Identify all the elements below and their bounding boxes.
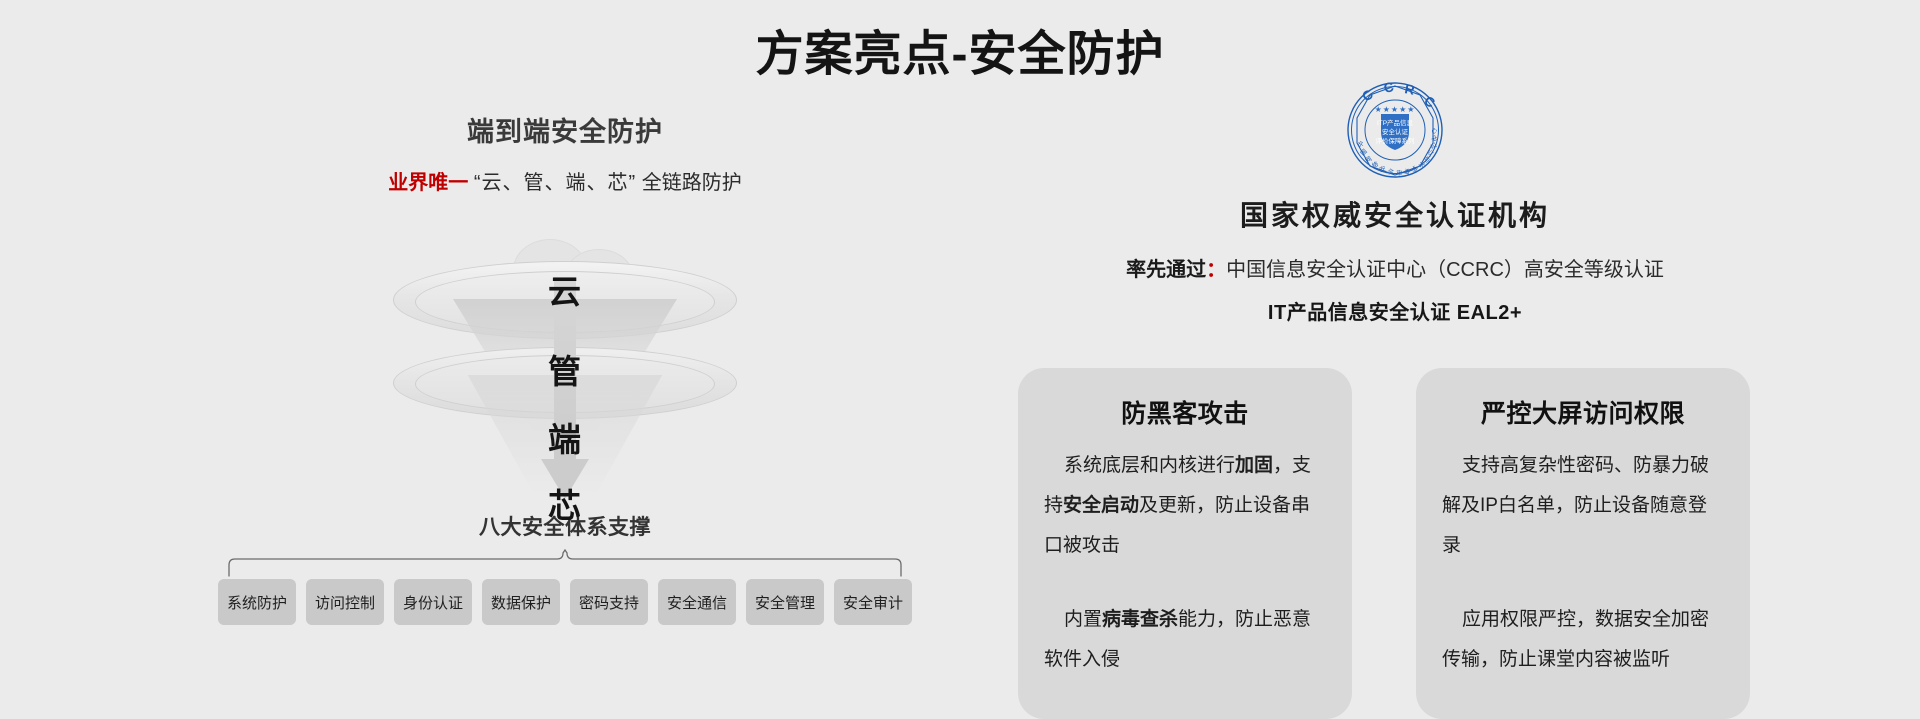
feature-card-access-control[interactable]: 严控大屏访问权限 支持高复杂性密码、防暴力破解及IP白名单，防止设备随意登录 应… [1416, 368, 1750, 719]
certification-line-1: 率先通过：中国信息安全认证中心（CCRC）高安全等级认证 [1000, 253, 1790, 282]
body-text: 系统底层和内核进行 [1064, 455, 1235, 476]
svg-text:ITP产品信息: ITP产品信息 [1377, 118, 1414, 127]
layer-label-pipe: 管 [385, 345, 745, 393]
layer-label-chip: 芯 [385, 479, 745, 527]
svg-text:C: C [1421, 93, 1438, 111]
security-tag[interactable]: 身份认证 [394, 579, 472, 625]
emphasis-text: 安全启动 [1063, 495, 1139, 516]
ccrc-certification-badge-icon: ITP产品信息 安全认证 评价保障系列 ★★★★★ C C R C 中 国 网 [1337, 78, 1453, 182]
chain-scope-tail: 全链路防护 [642, 172, 742, 194]
security-tag[interactable]: 访问控制 [306, 579, 384, 625]
security-tag[interactable]: 数据保护 [482, 579, 560, 625]
certification-colon: ： [1206, 259, 1226, 281]
body-text: 应用权限严控，数据安全加密传输，防止课堂内容被监听 [1442, 609, 1709, 670]
card-title: 防黑客攻击 [1044, 394, 1326, 430]
left-section-subheading: 业界唯一 “云、管、端、芯” 全链路防护 [150, 166, 980, 195]
chain-scope-quoted: “云、管、端、芯” [474, 172, 636, 194]
security-tag[interactable]: 密码支持 [570, 579, 648, 625]
emphasis-text: 加固 [1235, 455, 1273, 476]
feature-card-group: 防黑客攻击 系统底层和内核进行加固，支持安全启动及更新，防止设备串口被攻击 内置… [1018, 368, 1750, 719]
svg-text:全: 全 [1387, 167, 1395, 176]
svg-text:心: 心 [1430, 127, 1438, 134]
layer-label-terminal: 端 [385, 413, 745, 461]
card-paragraph: 应用权限严控，数据安全加密传输，防止课堂内容被监听 [1442, 600, 1724, 680]
card-paragraph: 支持高复杂性密码、防暴力破解及IP白名单，防止设备随意登录 [1442, 446, 1724, 566]
certification-lead-label: 率先通过 [1126, 259, 1206, 281]
svg-text:评价保障系列: 评价保障系列 [1376, 136, 1415, 145]
page-title: 方案亮点-安全防护 [0, 14, 1920, 84]
emphasis-text: 病毒查杀 [1102, 609, 1178, 630]
svg-text:安全认证: 安全认证 [1382, 127, 1409, 136]
security-tag[interactable]: 安全通信 [658, 579, 736, 625]
eight-systems-tag-row: 系统防护 访问控制 身份认证 数据保护 密码支持 安全通信 安全管理 安全审计 [150, 579, 980, 625]
certification-heading: 国家权威安全认证机构 [1000, 194, 1790, 234]
feature-card-anti-hacking[interactable]: 防黑客攻击 系统底层和内核进行加固，支持安全启动及更新，防止设备串口被攻击 内置… [1018, 368, 1352, 719]
cloud-pipe-terminal-chip-diagram: 云 管 端 芯 [385, 237, 745, 497]
card-paragraph: 系统底层和内核进行加固，支持安全启动及更新，防止设备串口被攻击 [1044, 446, 1326, 566]
svg-text:R: R [1403, 81, 1416, 98]
end-to-end-security-section: 端到端安全防护 业界唯一 “云、管、端、芯” 全链路防护 云 管 端 芯 八大安… [150, 110, 980, 710]
svg-text:审: 审 [1396, 169, 1403, 177]
svg-text:C: C [1382, 79, 1395, 96]
industry-unique-highlight: 业界唯一 [388, 172, 468, 194]
card-title: 严控大屏访问权限 [1442, 394, 1724, 430]
certification-section: ITP产品信息 安全认证 评价保障系列 ★★★★★ C C R C 中 国 网 [1000, 78, 1790, 325]
svg-text:安: 安 [1379, 165, 1387, 174]
security-tag[interactable]: 安全管理 [746, 579, 824, 625]
body-text: 内置 [1064, 609, 1102, 630]
certification-body: 中国信息安全认证中心（CCRC）高安全等级认证 [1226, 259, 1664, 281]
card-paragraph: 内置病毒查杀能力，防止恶意软件入侵 [1044, 600, 1326, 680]
layer-label-cloud: 云 [385, 265, 745, 313]
eight-systems-bracket [225, 549, 905, 577]
body-text: 支持高复杂性密码、防暴力破解及IP白名单，防止设备随意登录 [1442, 455, 1709, 556]
certification-line-2: IT产品信息安全认证 EAL2+ [1000, 296, 1790, 325]
svg-text:★★★★★: ★★★★★ [1375, 105, 1416, 114]
security-tag[interactable]: 系统防护 [218, 579, 296, 625]
security-tag[interactable]: 安全审计 [834, 579, 912, 625]
left-section-heading: 端到端安全防护 [150, 110, 980, 149]
